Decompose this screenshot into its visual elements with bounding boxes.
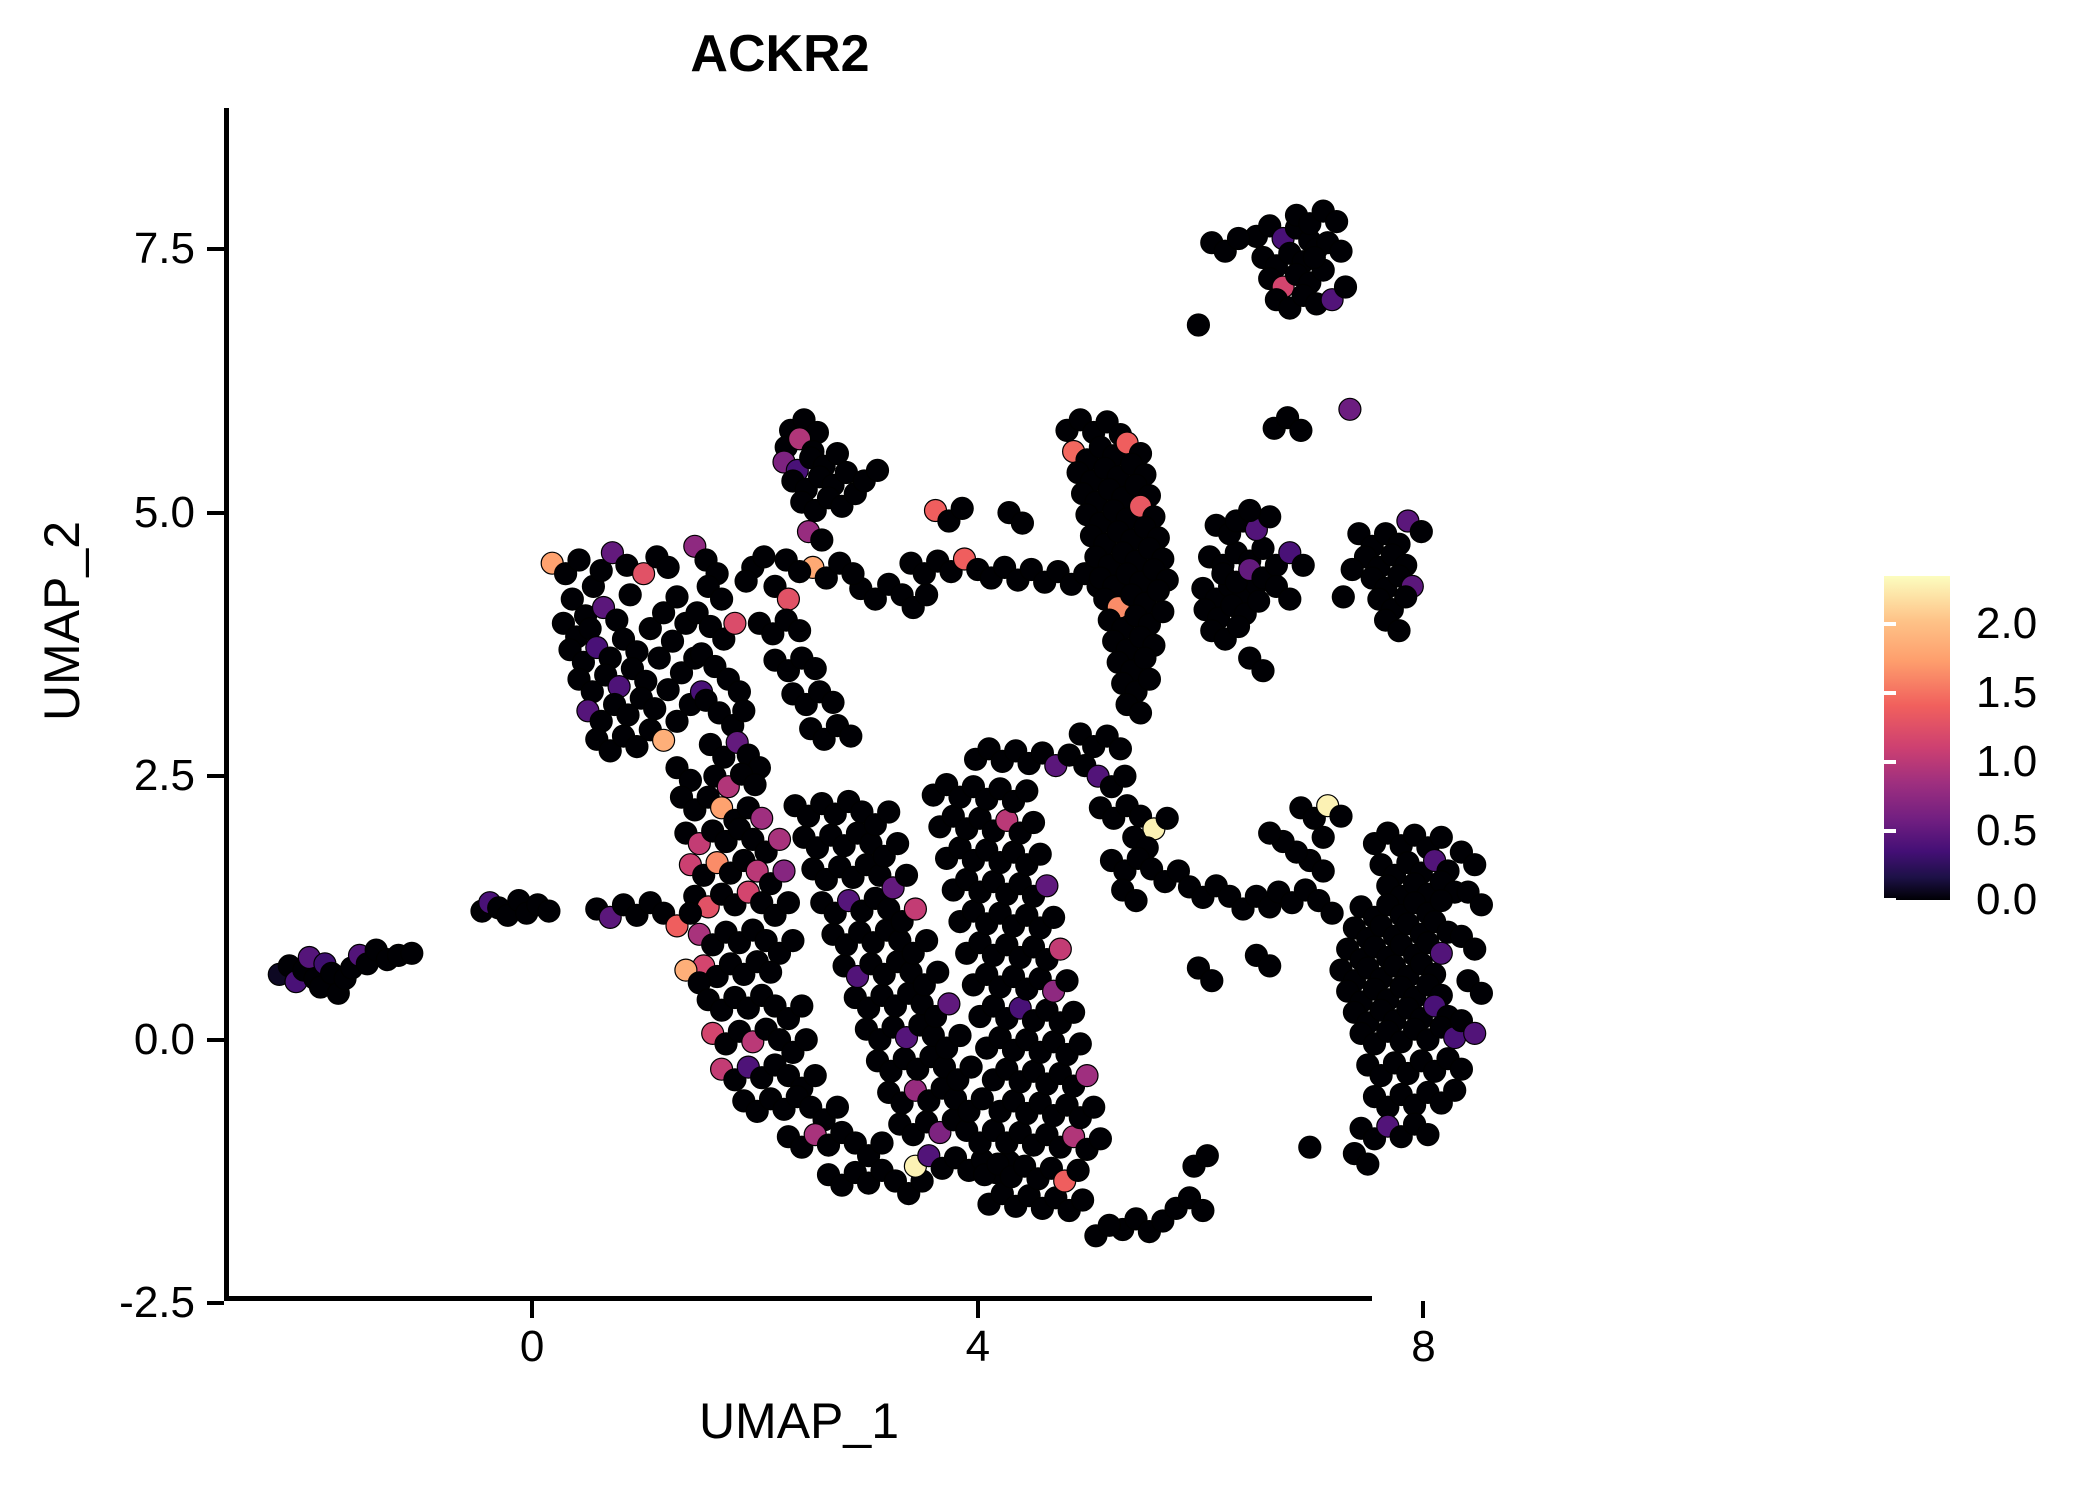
scatter-point [1036,875,1058,897]
scatter-point [662,630,684,652]
scatter-point [782,930,804,952]
colorbar-tick-label: 1.5 [1976,668,2037,718]
scatter-point [1130,702,1152,724]
scatter-point [887,833,909,855]
x-tick-label: 8 [1411,1322,1435,1372]
x-tick-mark [976,1301,980,1318]
y-tick-label: 5.0 [134,488,195,538]
scatter-point [927,961,949,983]
scatter-point [1303,247,1325,269]
scatter-point [1464,854,1486,876]
y-tick-label: 7.5 [134,224,195,274]
scatter-point [1341,559,1363,581]
colorbar-tick-label: 0.0 [1976,875,2037,925]
scatter-point [1187,314,1209,336]
scatter-point [769,828,791,850]
y-axis-line [224,108,229,1301]
scatter-point [1388,620,1410,642]
scatter-point [1147,580,1169,602]
scatter-point [789,620,811,642]
scatter-point [1299,1136,1321,1158]
scatter-point [1072,1189,1094,1211]
scatter-point [724,612,746,634]
scatter-point [1279,588,1301,610]
scatter-point [1430,942,1452,964]
colorbar-tick-mark [2072,691,2084,695]
scatter-point [1430,890,1452,912]
scatter-point [1290,419,1312,441]
scatter-point [1029,843,1051,865]
scatter-point [1330,805,1352,827]
scatter-point [1076,1065,1098,1087]
colorbar-legend: 0.00.51.01.52.0 [1884,576,2084,902]
y-tick-label: 2.5 [134,751,195,801]
scatter-point [1138,668,1160,690]
scatter-point [1357,1153,1379,1175]
scatter-point [733,700,755,722]
scatter-point [1259,955,1281,977]
scatter-point [1248,590,1270,612]
scatter-point [568,549,590,571]
scatter-point [1134,647,1156,669]
x-axis-title: UMAP_1 [228,1392,1370,1450]
scatter-point [1228,616,1250,638]
scatter-point [1332,586,1354,608]
scatter-point [960,1056,982,1078]
scatter-point [896,864,918,886]
scatter-point [1259,506,1281,528]
x-tick-mark [530,1301,534,1318]
scatter-point [904,898,926,920]
colorbar-tick-mark [1884,691,1896,695]
scatter-point [1063,1001,1085,1023]
x-tick-mark [1421,1301,1425,1318]
scatter-plot-svg [228,112,1370,1298]
scatter-point [1016,780,1038,802]
y-tick-mark [207,247,224,251]
scatter-point [1056,970,1078,992]
scatter-point [1259,822,1281,844]
scatter-point [744,774,766,796]
colorbar-tick-mark [2072,829,2084,833]
scatter-point [1312,826,1334,848]
scatter-point [1410,521,1432,543]
scatter-point [804,1065,826,1087]
scatter-point [840,725,862,747]
x-tick-label: 4 [966,1322,990,1372]
scatter-point [878,801,900,823]
scatter-point [1326,211,1348,233]
scatter-point [1470,982,1492,1004]
scatter-point [1312,860,1334,882]
scatter-point [1023,812,1045,834]
scatter-point [728,681,750,703]
scatter-point [1339,398,1361,420]
scatter-point [1470,894,1492,916]
scatter-point [1114,765,1136,787]
scatter-point [1417,1124,1439,1146]
scatter-point [711,588,733,610]
scatter-point [1043,906,1065,928]
scatter-point [777,892,799,914]
y-tick-mark [207,1301,224,1305]
scatter-panel [228,112,1370,1298]
scatter-point [653,729,675,751]
scatter-point [1192,1200,1214,1222]
scatter-point [1156,807,1178,829]
scatter-point [1089,1128,1111,1150]
scatter-point [1430,826,1452,848]
scatter-point [1395,586,1417,608]
scatter-point [1321,902,1343,924]
y-tick-label: 0.0 [134,1015,195,1065]
colorbar-tick-mark [1884,622,1896,626]
scatter-point [619,584,641,606]
x-axis-line [224,1296,1372,1301]
scatter-point [1239,500,1261,522]
scatter-point [401,942,423,964]
scatter-point [795,1029,817,1051]
scatter-point [679,902,701,924]
scatter-point [1450,1058,1472,1080]
scatter-point [1252,660,1274,682]
y-tick-label: -2.5 [119,1278,195,1328]
scatter-point [916,930,938,952]
y-tick-mark [207,511,224,515]
scatter-point [1152,601,1174,623]
scatter-point [1109,738,1131,760]
scatter-point [1444,1079,1466,1101]
colorbar-tick-mark [2072,898,2084,902]
scatter-point [916,584,938,606]
scatter-point [1330,240,1352,262]
scatter-point [538,900,560,922]
scatter-point [760,961,782,983]
scatter-point [1201,970,1223,992]
scatter-point [1125,890,1147,912]
scatter-point [1464,938,1486,960]
scatter-point [644,698,666,720]
colorbar-tick-mark [2072,622,2084,626]
scatter-point [791,995,813,1017]
scatter-point [871,1132,893,1154]
scatter-point [777,588,799,610]
scatter-point [773,860,795,882]
scatter-point [735,570,757,592]
scatter-point [657,556,679,578]
plot-root: ACKR2 -2.50.02.55.07.5 048 UMAP_1 UMAP_2… [0,0,2100,1500]
colorbar-tick-label: 0.5 [1976,806,2037,856]
colorbar-tick-label: 2.0 [1976,599,2037,649]
scatter-point [938,993,960,1015]
scatter-point [1067,1159,1089,1181]
scatter-point [1098,1214,1120,1236]
colorbar-tick-mark [2072,760,2084,764]
page-title: ACKR2 [0,24,1560,84]
y-tick-mark [207,1038,224,1042]
scatter-point [1049,938,1071,960]
scatter-point [842,563,864,585]
scatter-point [949,1025,971,1047]
scatter-point [666,586,688,608]
colorbar-tick-mark [1884,829,1896,833]
scatter-point [1292,554,1314,576]
scatter-point [1083,1096,1105,1118]
scatter-point [1196,1145,1218,1167]
scatter-point [811,529,833,551]
y-axis-title: UMAP_2 [33,341,91,901]
scatter-point [789,561,811,583]
scatter-point [751,807,773,829]
colorbar-tick-mark [1884,760,1896,764]
colorbar-tick-label: 1.0 [1976,737,2037,787]
scatter-point [951,497,973,519]
scatter-point [826,1096,848,1118]
scatter-point [1069,1033,1091,1055]
scatter-point [1464,1022,1486,1044]
scatter-point [753,546,775,568]
y-tick-mark [207,774,224,778]
scatter-point [1228,228,1250,250]
colorbar-tick-mark [1884,898,1896,902]
scatter-points-group [268,200,1492,1247]
scatter-point [804,658,826,680]
scatter-point [867,459,889,481]
x-tick-label: 0 [520,1322,544,1372]
scatter-point [1335,276,1357,298]
scatter-point [822,691,844,713]
scatter-point [1011,512,1033,534]
